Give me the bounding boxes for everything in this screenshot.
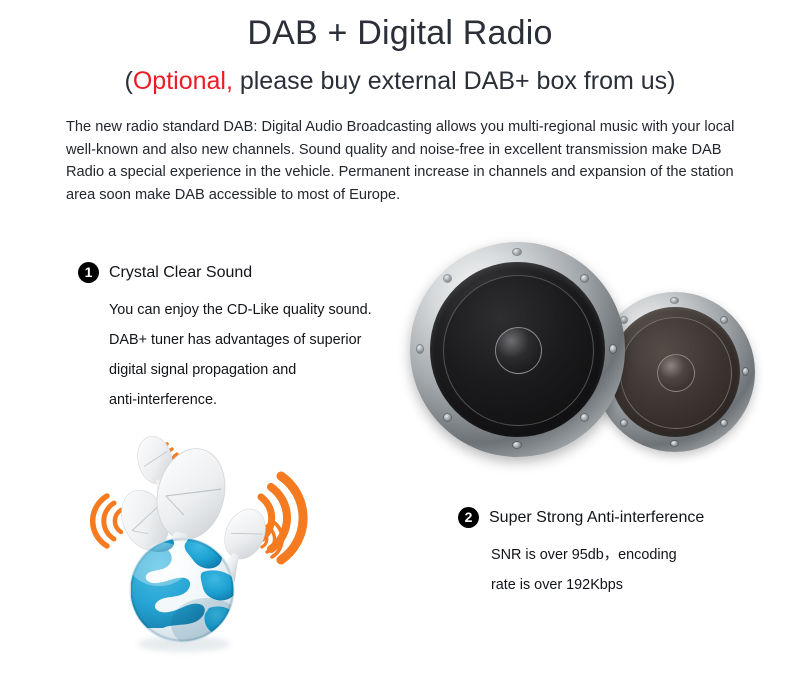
- feature-number-badge: 2: [458, 507, 479, 528]
- feature-body: You can enjoy the CD-Like quality sound.…: [109, 295, 372, 415]
- globe-icon: [129, 534, 243, 650]
- subtitle-open-paren: (: [125, 67, 133, 95]
- feature-body-line: You can enjoy the CD-Like quality sound.: [109, 295, 372, 325]
- page-subtitle: (Optional, please buy external DAB+ box …: [0, 65, 800, 97]
- feature-body-line: anti-interference.: [109, 385, 372, 415]
- feature-block-crystal-clear-sound: 1 Crystal Clear Sound You can enjoy the …: [78, 262, 372, 415]
- page-title: DAB + Digital Radio: [0, 12, 800, 54]
- feature-body-line: SNR is over 95db，encoding: [491, 540, 704, 570]
- small-speaker-dome: [657, 354, 695, 392]
- speaker-screw-icon: [581, 414, 588, 421]
- feature-title: Super Strong Anti-interference: [489, 509, 704, 527]
- feature-number-badge: 1: [78, 262, 99, 283]
- speaker-screw-icon: [721, 420, 727, 426]
- subtitle-rest: please buy external DAB+ box from us): [233, 67, 676, 95]
- subtitle-optional-accent: Optional,: [133, 67, 233, 95]
- large-speaker-dome: [495, 327, 542, 374]
- speaker-screw-icon: [610, 345, 616, 353]
- dual-speaker-illustration: [395, 222, 795, 497]
- feature-heading: 2 Super Strong Anti-interference: [458, 507, 704, 528]
- feature-body-line: rate is over 192Kbps: [491, 570, 704, 600]
- speaker-screw-icon: [621, 317, 627, 323]
- feature-title: Crystal Clear Sound: [109, 264, 252, 282]
- intro-paragraph: The new radio standard DAB: Digital Audi…: [66, 116, 738, 206]
- speaker-screw-icon: [621, 420, 627, 426]
- speaker-screw-icon: [444, 414, 451, 421]
- speaker-screw-icon: [581, 275, 588, 282]
- feature-body-line: DAB+ tuner has advantages of superior: [109, 325, 372, 355]
- speaker-screw-icon: [513, 442, 521, 448]
- large-speaker-icon: [410, 242, 625, 457]
- speaker-screw-icon: [721, 317, 727, 323]
- feature-block-super-strong-anti-interference: 2 Super Strong Anti-interference SNR is …: [458, 507, 704, 600]
- satellite-globe-illustration: [85, 432, 405, 662]
- speaker-screw-icon: [417, 345, 423, 353]
- speaker-screw-icon: [671, 441, 678, 446]
- speaker-screw-icon: [743, 368, 748, 375]
- signal-arc-group-left: [93, 496, 121, 546]
- feature-body-line: digital signal propagation and: [109, 355, 372, 385]
- speaker-screw-icon: [513, 249, 521, 255]
- speaker-screw-icon: [444, 275, 451, 282]
- feature-heading: 1 Crystal Clear Sound: [78, 262, 372, 283]
- speaker-screw-icon: [671, 298, 678, 303]
- feature-body: SNR is over 95db，encoding rate is over 1…: [491, 540, 704, 600]
